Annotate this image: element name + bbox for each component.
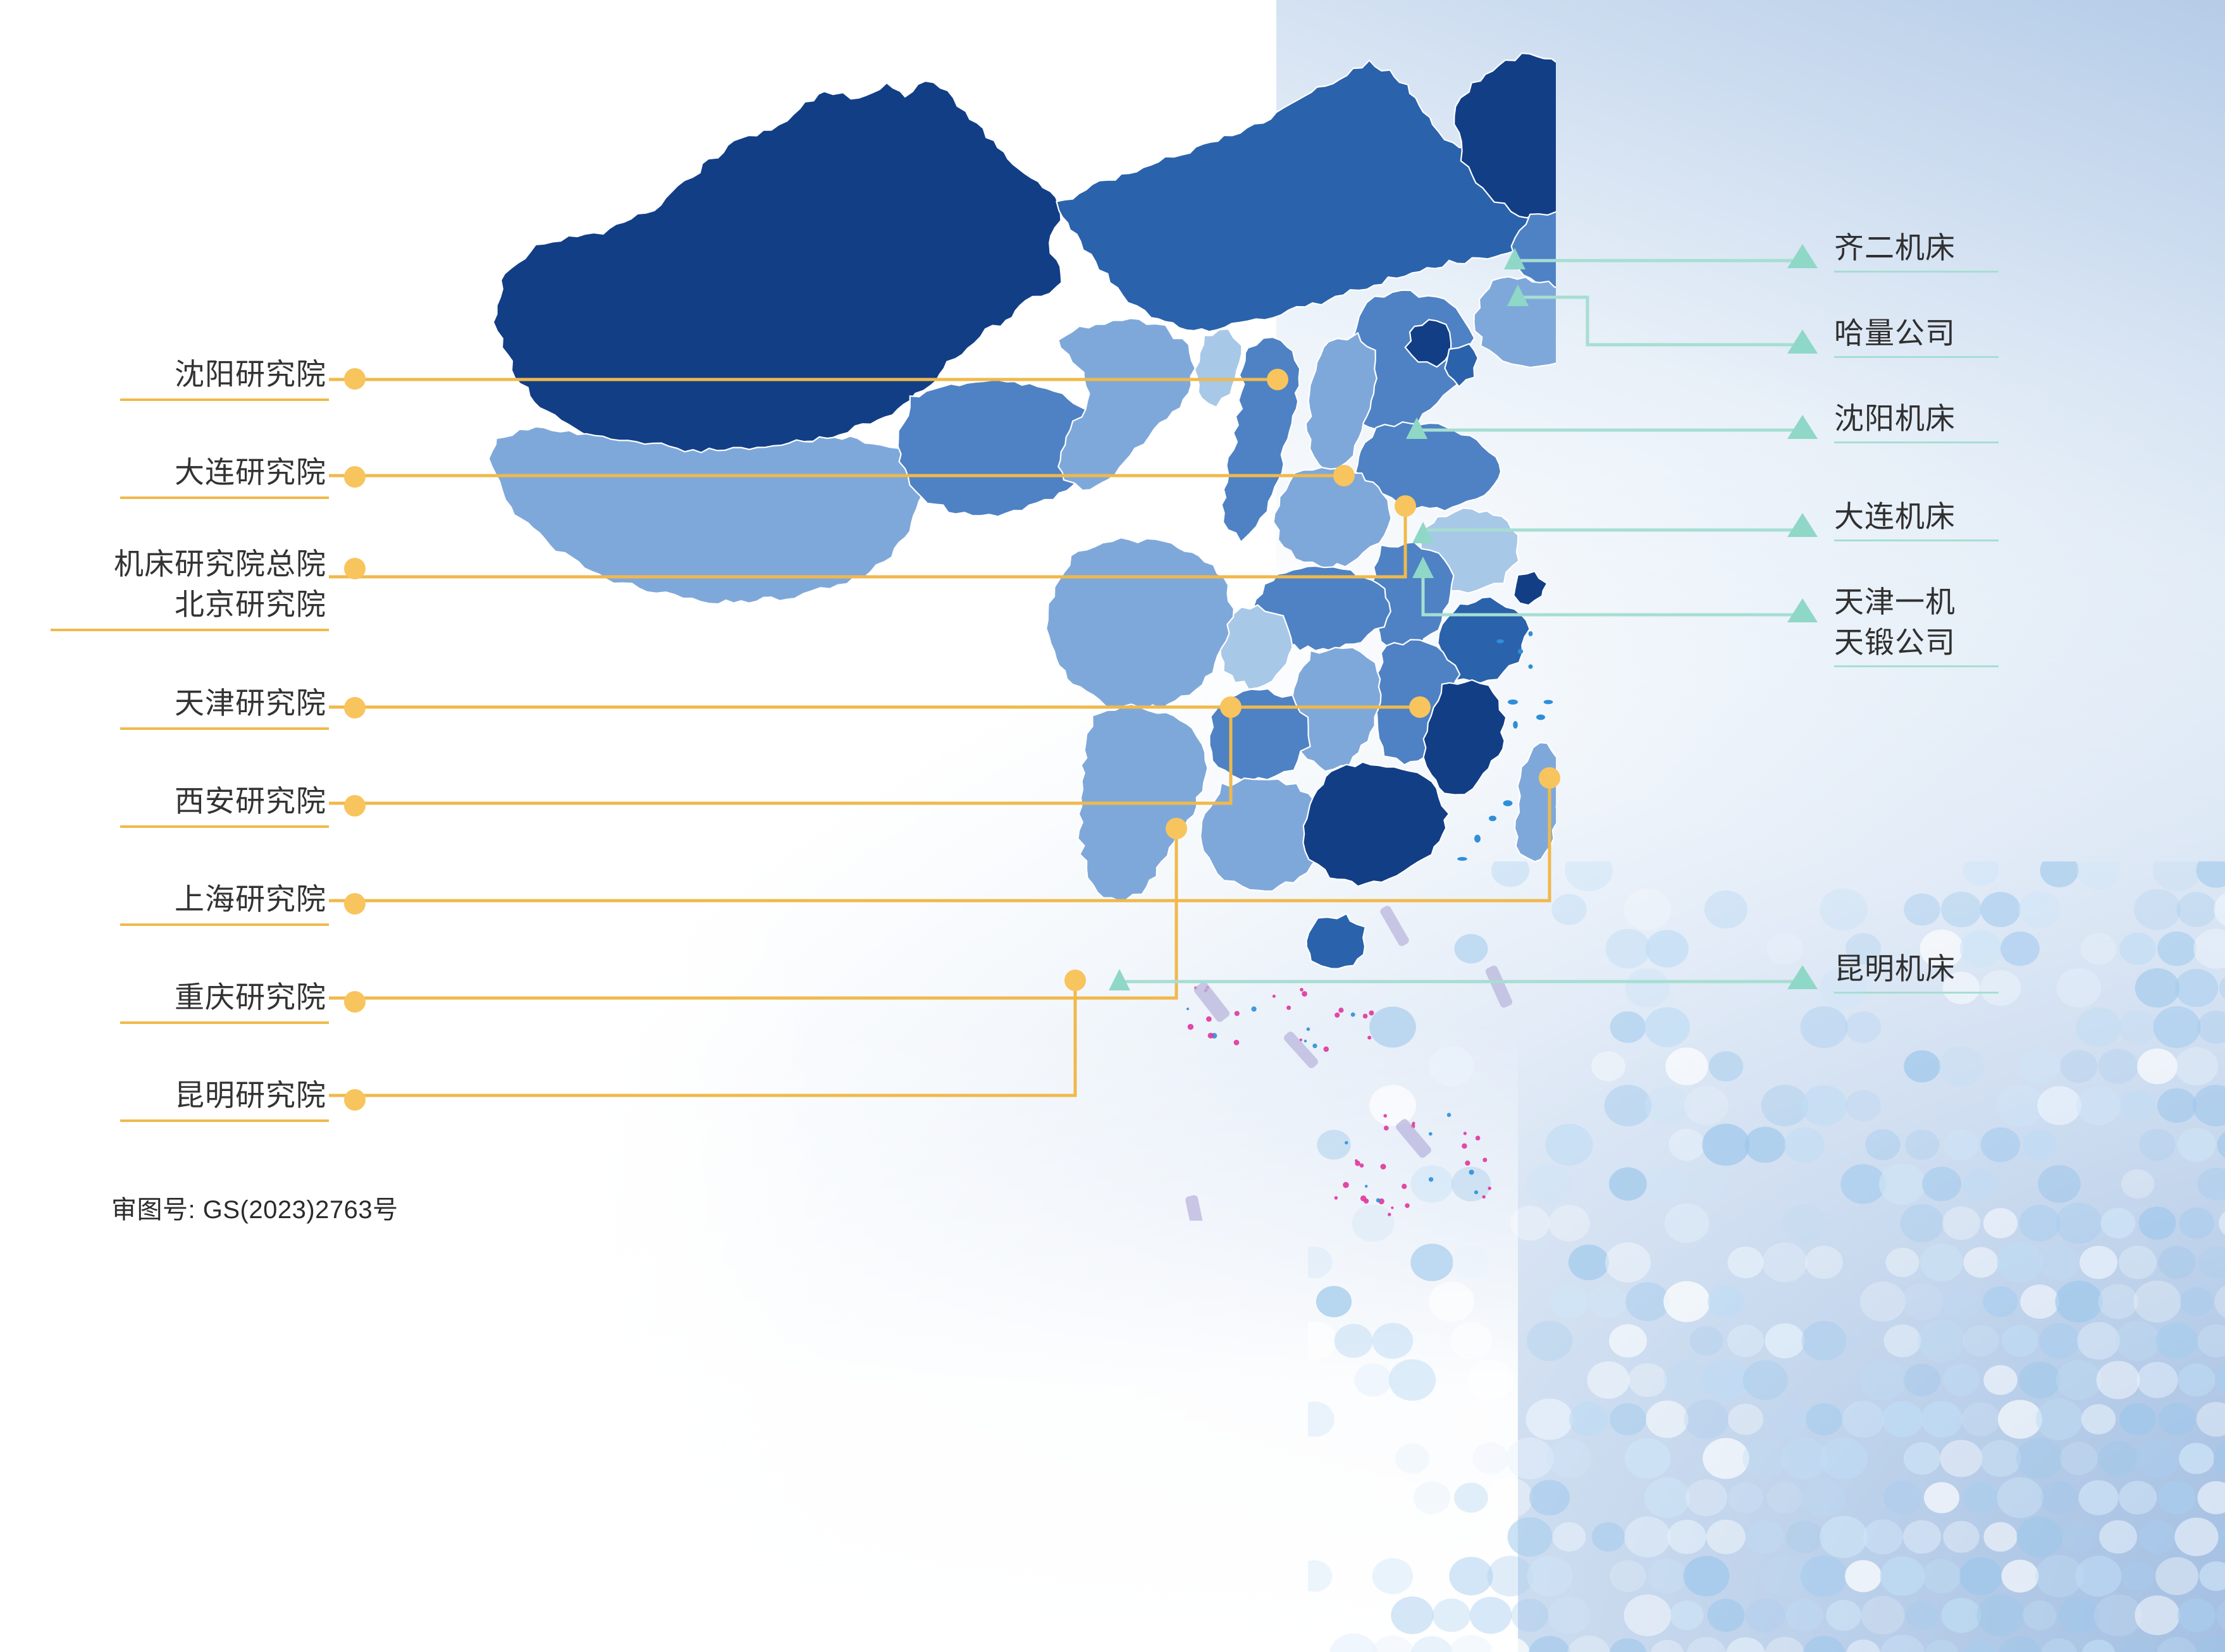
left-label-underline	[120, 398, 329, 401]
orange-dot-marker	[344, 558, 366, 579]
map-node-dot	[1395, 495, 1416, 517]
left-label-text: 大连研究院	[25, 452, 329, 493]
map-node-dot	[1409, 696, 1431, 718]
left-label-text-line2: 北京研究院	[25, 584, 329, 625]
map-node-dot	[1166, 818, 1187, 839]
left-label-item[interactable]: 沈阳研究院	[25, 354, 329, 401]
left-label-item[interactable]: 昆明研究院	[25, 1075, 329, 1122]
left-label-underline	[120, 727, 329, 730]
orange-dot-marker	[344, 368, 366, 390]
right-label-item[interactable]: 大连机床	[1834, 496, 2100, 541]
map-node-dot	[1220, 696, 1242, 718]
left-label-text: 昆明研究院	[25, 1075, 329, 1116]
map-node-dot	[1333, 465, 1355, 486]
right-label-underline	[1834, 271, 1999, 273]
teal-triangle-marker	[1787, 415, 1818, 439]
right-label-underline	[1834, 441, 1999, 443]
map-node-triangle	[1109, 969, 1130, 990]
right-label-text: 沈阳机床	[1834, 398, 2100, 439]
left-label-text: 重庆研究院	[25, 977, 329, 1018]
connector-line	[1423, 569, 1799, 615]
map-node-dot	[1539, 767, 1560, 789]
right-label-item[interactable]: 哈量公司	[1834, 313, 2100, 358]
map-node-triangle	[1412, 522, 1434, 543]
right-label-underline	[1834, 992, 1999, 994]
poster-stage: 沈阳研究院 大连研究院 机床研究院总院 北京研究院 天津研究院 西安研究院 上海…	[0, 0, 2225, 1652]
connector-line	[1515, 297, 1799, 345]
right-label-text: 齐二机床	[1834, 228, 2100, 268]
connector-line	[329, 829, 1176, 998]
right-label-item[interactable]: 天津一机 天锻公司	[1834, 582, 2100, 667]
map-node-triangle	[1507, 285, 1529, 306]
left-label-item[interactable]: 大连研究院	[25, 452, 329, 499]
map-approval-number: 审图号: GS(2023)2763号	[111, 1189, 398, 1226]
map-node-triangle	[1504, 248, 1525, 269]
right-label-item[interactable]: 沈阳机床	[1834, 398, 2100, 443]
left-label-underline	[120, 496, 329, 499]
left-label-text: 西安研究院	[25, 781, 329, 822]
right-label-underline	[1834, 665, 1999, 667]
teal-triangle-marker	[1787, 244, 1818, 268]
right-label-underline	[1834, 356, 1999, 358]
map-node-dot	[1064, 970, 1086, 991]
left-label-underline	[120, 1021, 329, 1024]
connector-line	[329, 778, 1550, 901]
left-label-text: 机床研究院总院	[25, 544, 329, 584]
left-label-underline	[120, 825, 329, 828]
teal-triangle-marker	[1787, 513, 1818, 537]
right-label-underline	[1834, 539, 1999, 541]
map-node-triangle	[1406, 417, 1427, 439]
left-label-item[interactable]: 机床研究院总院 北京研究院	[25, 544, 329, 631]
right-label-text: 大连机床	[1834, 496, 2100, 537]
right-label-item[interactable]: 昆明机床	[1834, 949, 2100, 994]
map-node-triangle	[1412, 557, 1434, 578]
left-label-underline	[120, 1119, 329, 1122]
orange-dot-marker	[344, 795, 366, 817]
map-node-dot	[1267, 369, 1288, 390]
right-label-text: 昆明机床	[1834, 949, 2100, 989]
orange-dot-marker	[344, 991, 366, 1013]
left-label-item[interactable]: 上海研究院	[25, 879, 329, 926]
teal-triangle-marker	[1787, 598, 1818, 622]
connector-line	[329, 506, 1405, 577]
connector-line	[329, 707, 1231, 803]
left-label-item[interactable]: 西安研究院	[25, 781, 329, 828]
orange-dot-marker	[344, 697, 366, 718]
orange-dot-marker	[344, 466, 366, 488]
right-label-item[interactable]: 齐二机床	[1834, 228, 2100, 273]
orange-dot-marker	[344, 893, 366, 915]
right-label-text-line2: 天锻公司	[1834, 622, 2100, 663]
orange-dot-marker	[344, 1089, 366, 1111]
left-label-text: 沈阳研究院	[25, 354, 329, 395]
left-label-text: 天津研究院	[25, 683, 329, 724]
teal-triangle-marker	[1787, 965, 1818, 989]
left-label-underline	[51, 629, 329, 631]
teal-triangle-marker	[1787, 330, 1818, 354]
left-label-text: 上海研究院	[25, 879, 329, 920]
right-label-text: 哈量公司	[1834, 313, 2100, 354]
left-label-item[interactable]: 天津研究院	[25, 683, 329, 730]
left-label-item[interactable]: 重庆研究院	[25, 977, 329, 1024]
left-label-underline	[120, 923, 329, 926]
right-label-text: 天津一机	[1834, 582, 2100, 622]
